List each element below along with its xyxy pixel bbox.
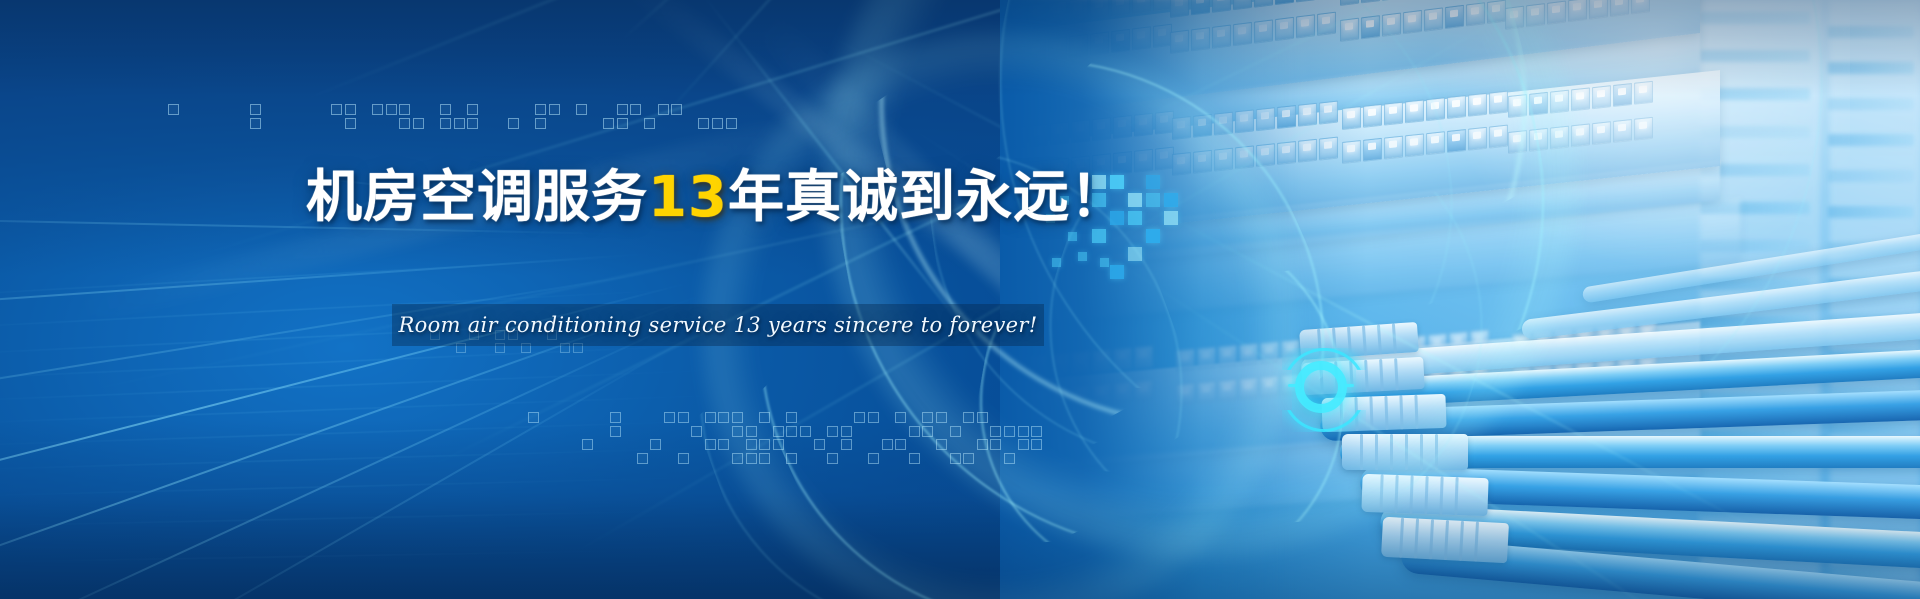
mosaic-square-small xyxy=(1100,258,1109,267)
mosaic-square-small xyxy=(1068,232,1077,241)
mosaic-square xyxy=(1164,193,1178,207)
cyan-mosaic-blocks xyxy=(0,0,1920,599)
headline: 机房空调服务13年真诚到永远！ xyxy=(306,168,1127,228)
mosaic-square xyxy=(1164,211,1178,225)
mosaic-square xyxy=(1092,229,1106,243)
mosaic-square xyxy=(1128,247,1142,261)
mosaic-square xyxy=(1128,211,1142,225)
mosaic-square xyxy=(1110,265,1124,279)
mosaic-square xyxy=(1146,175,1160,189)
hero-banner: 机房空调服务13年真诚到永远！ Room air conditioning se… xyxy=(0,0,1920,599)
mosaic-square xyxy=(1146,229,1160,243)
headline-part1: 机房空调服务 xyxy=(306,165,648,230)
headline-highlight-number: 13 xyxy=(648,165,728,230)
headline-part2: 年真诚到永远！ xyxy=(728,165,1127,230)
mosaic-square xyxy=(1128,193,1142,207)
subtitle: Room air conditioning service 13 years s… xyxy=(392,304,1044,346)
mosaic-square-small xyxy=(1078,252,1087,261)
mosaic-square-small xyxy=(1052,258,1061,267)
mosaic-square xyxy=(1146,193,1160,207)
